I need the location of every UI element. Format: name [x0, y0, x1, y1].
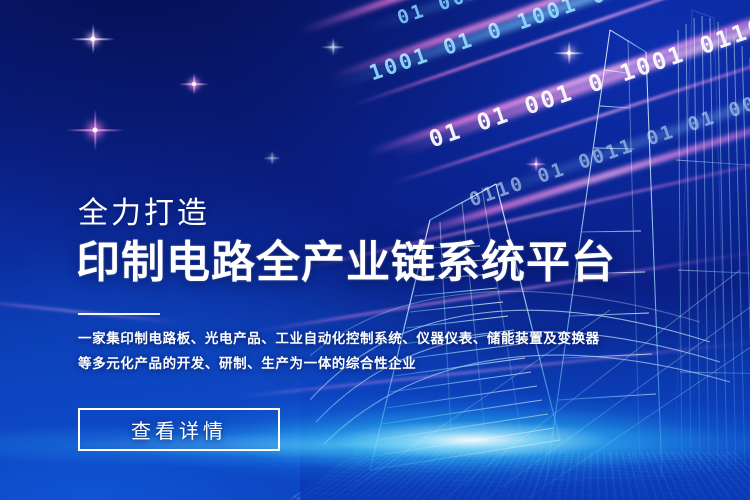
banner-headline: 印制电路全产业链系统平台 — [76, 236, 616, 290]
hero-banner: 01 001 01 0011 01 01 001 0 1001 01 1001 … — [0, 0, 750, 500]
banner-description-line-1: 一家集印制电路板、光电产品、工业自动化控制系统、仪器仪表、储能装置及变换器 — [78, 328, 600, 350]
banner-content: 全力打造 印制电路全产业链系统平台 一家集印制电路板、光电产品、工业自动化控制系… — [0, 0, 750, 500]
divider-rule — [78, 313, 160, 315]
view-details-button[interactable]: 查看详情 — [78, 408, 280, 451]
banner-description-line-2: 等多元化产品的开发、研制、生产为一体的综合性企业 — [78, 353, 416, 375]
banner-eyebrow: 全力打造 — [78, 194, 210, 234]
